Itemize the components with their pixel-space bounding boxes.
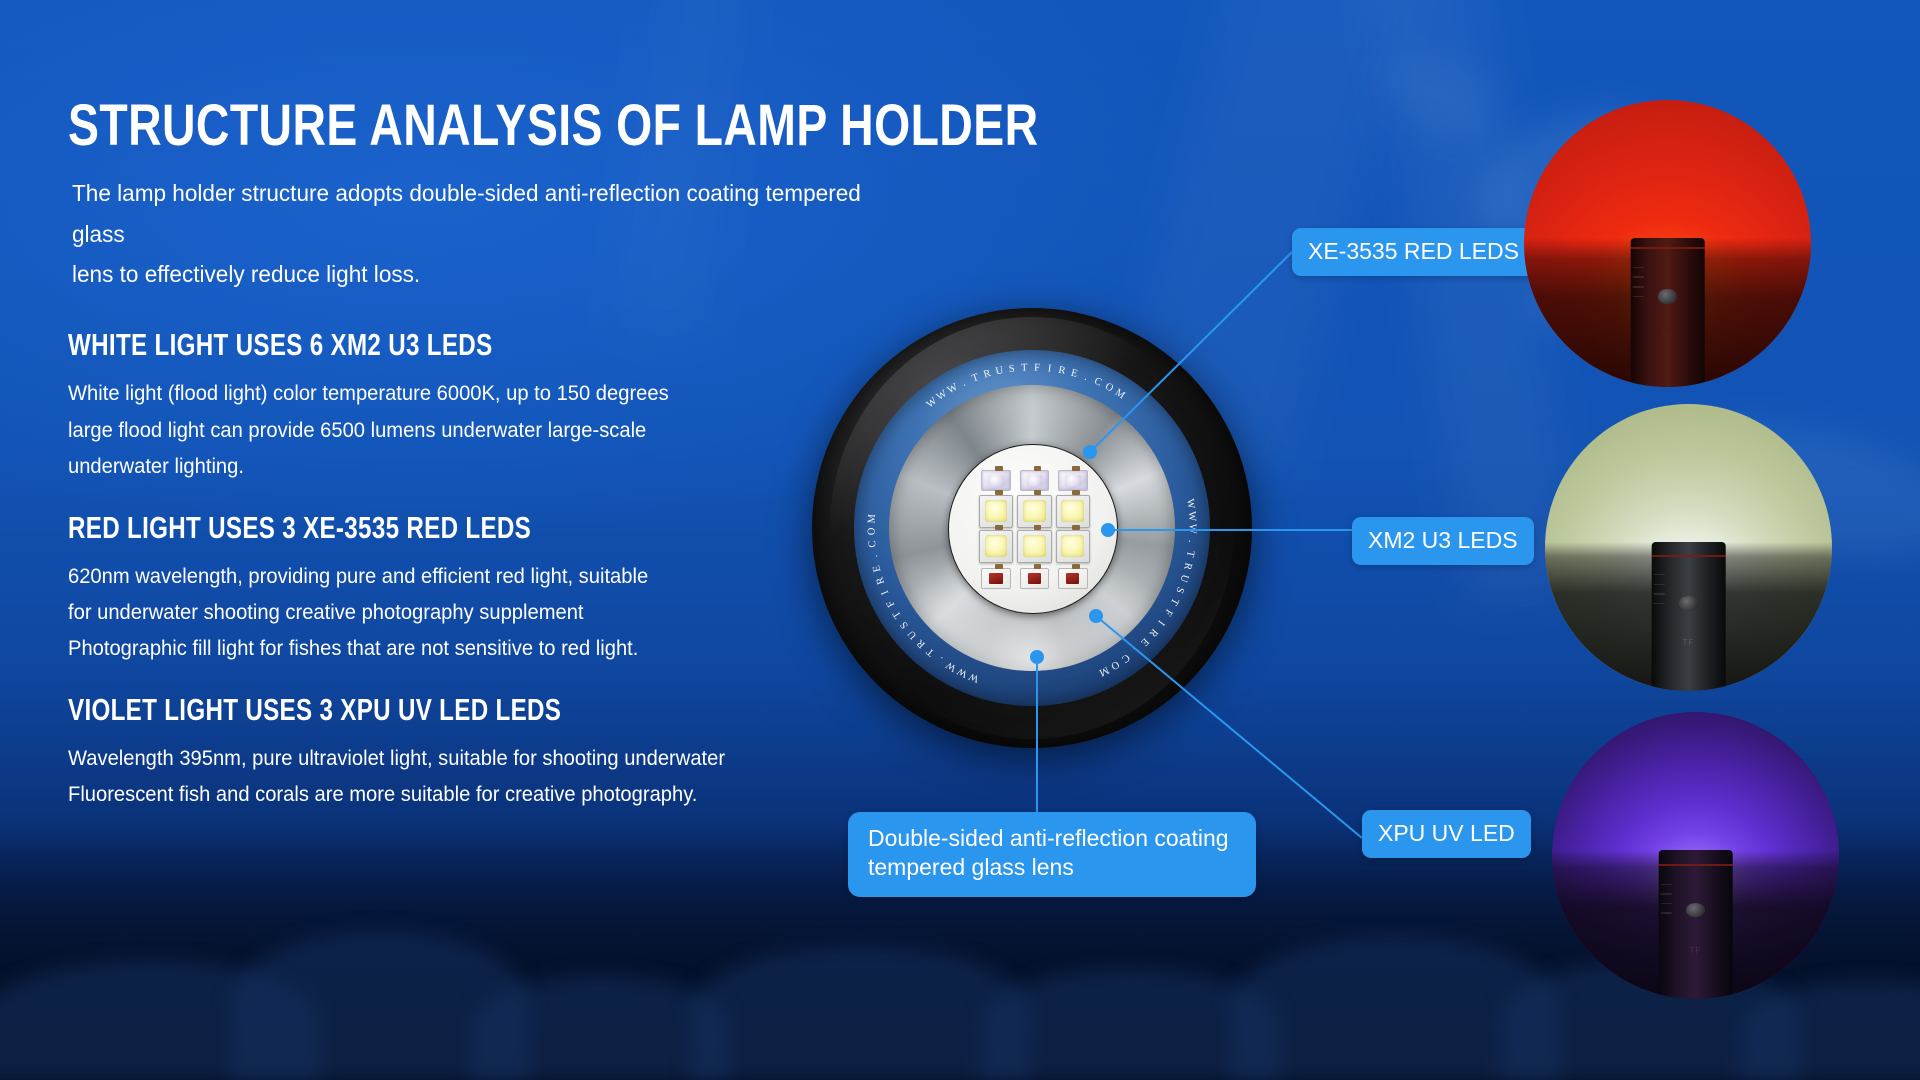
section-violet-light: VIOLET LIGHT USES 3 XPU UV LED LEDS Wave… — [68, 693, 898, 813]
body-line: Photographic fill light for fishes that … — [68, 631, 865, 667]
torch-logo-red: TF — [1630, 331, 1705, 340]
brand-char: C — [867, 537, 879, 548]
brand-char: T — [1183, 550, 1195, 561]
info-column: STRUCTURE ANALYSIS OF LAMP HOLDER The la… — [68, 96, 898, 840]
section-red-light: RED LIGHT USES 3 XE-3535 RED LEDS 620nm … — [68, 511, 898, 667]
pcb-trace — [1034, 525, 1042, 530]
led-white-4 — [979, 530, 1014, 563]
beam-photo-red: TF — [1524, 100, 1811, 387]
pcb-trace — [995, 525, 1003, 530]
page-title: STRUCTURE ANALYSIS OF LAMP HOLDER — [68, 96, 732, 155]
led-board — [948, 444, 1117, 613]
section-heading-white: WHITE LIGHT USES 6 XM2 U3 LEDS — [68, 328, 715, 362]
callout-white-leds[interactable]: XM2 U3 LEDS — [1352, 517, 1534, 565]
brand-char: W — [1186, 511, 1198, 524]
pcb-trace — [1072, 466, 1080, 471]
section-body-violet: Wavelength 395nm, pure ultraviolet light… — [68, 741, 865, 813]
brand-char: . — [1083, 372, 1092, 384]
brand-char: U — [1177, 573, 1191, 586]
led-uv-3 — [1058, 470, 1088, 491]
body-line: for underwater shooting creative photogr… — [68, 595, 865, 631]
beam-photo-white: TF — [1545, 404, 1832, 691]
body-line: Wavelength 395nm, pure ultraviolet light… — [68, 741, 865, 777]
callout-lens-line-1: Double-sided anti-reflection coating — [868, 824, 1236, 853]
led-white-2 — [1017, 495, 1052, 528]
led-grid — [949, 445, 1116, 612]
brand-char: I — [1047, 363, 1054, 375]
brand-char: T — [1021, 362, 1030, 373]
lead-line-2: lens to effectively reduce light loss. — [72, 254, 865, 294]
brand-char: . — [868, 552, 880, 559]
brand-char: R — [982, 367, 994, 380]
flashlight-body-white: TF — [1651, 542, 1726, 691]
brand-char: W — [1186, 524, 1197, 537]
led-white-3 — [1056, 495, 1091, 528]
section-body-red: 620nm wavelength, providing pure and eff… — [68, 559, 865, 667]
callout-lens[interactable]: Double-sided anti-reflection coating tem… — [848, 812, 1256, 897]
torch-logo-white: TF — [1651, 638, 1726, 647]
section-white-light: WHITE LIGHT USES 6 XM2 U3 LEDS White lig… — [68, 328, 898, 484]
led-uv-2 — [1020, 470, 1050, 491]
pcb-trace — [995, 564, 1003, 569]
section-body-white: White light (flood light) color temperat… — [68, 376, 865, 484]
brand-char: F — [1034, 362, 1043, 373]
beam-photo-uv: TF — [1552, 712, 1839, 999]
callout-red-leds[interactable]: XE-3535 RED LEDS — [1292, 228, 1535, 276]
body-line: White light (flood light) color temperat… — [68, 376, 865, 412]
section-heading-red: RED LIGHT USES 3 XE-3535 RED LEDS — [68, 511, 715, 545]
lead-paragraph: The lamp holder structure adopts double-… — [72, 173, 865, 294]
pcb-trace — [1034, 490, 1042, 495]
brand-char: R — [874, 573, 888, 586]
pcb-trace — [1072, 490, 1080, 495]
section-heading-violet: VIOLET LIGHT USES 3 XPU UV LED LEDS — [68, 693, 715, 727]
torch-logo-uv: TF — [1658, 946, 1733, 955]
brand-char: U — [995, 365, 1007, 378]
brand-char: W — [1184, 498, 1197, 512]
brand-char: . — [1186, 540, 1197, 546]
brand-char: S — [1008, 363, 1018, 375]
led-white-5 — [1017, 530, 1052, 563]
pcb-trace — [1072, 525, 1080, 530]
pcb-trace — [1034, 466, 1042, 471]
brand-char: E — [1070, 367, 1082, 380]
body-line: 620nm wavelength, providing pure and eff… — [68, 559, 865, 595]
pcb-trace — [1034, 564, 1042, 569]
brand-char: E — [870, 562, 883, 573]
pcb-trace — [995, 490, 1003, 495]
brand-char: T — [970, 371, 982, 384]
brand-char: R — [1057, 365, 1069, 378]
lead-line-1: The lamp holder structure adopts double-… — [72, 173, 865, 254]
flashlight-body-uv: TF — [1658, 850, 1733, 999]
brand-char: O — [866, 525, 877, 535]
callout-uv-led[interactable]: XPU UV LED — [1362, 810, 1531, 858]
brand-char: M — [866, 511, 878, 524]
body-line: Fluorescent fish and corals are more sui… — [68, 777, 865, 813]
body-line: underwater lighting. — [68, 449, 865, 485]
flashlight-body-red: TF — [1630, 238, 1705, 387]
lamp-holder-photo: WWW.TRUSTFIRE.COMWWW.TRUSTFIRE.COMWWW.TR… — [812, 308, 1252, 748]
brand-char: R — [1181, 561, 1194, 573]
pcb-trace — [1072, 564, 1080, 569]
led-red-1 — [981, 568, 1011, 589]
led-red-2 — [1020, 568, 1050, 589]
led-white-1 — [979, 495, 1014, 528]
led-uv-1 — [981, 470, 1011, 491]
callout-lens-line-2: tempered glass lens — [868, 853, 1236, 882]
pcb-trace — [995, 466, 1003, 471]
led-white-6 — [1056, 530, 1091, 563]
body-line: large flood light can provide 6500 lumen… — [68, 413, 865, 449]
led-red-3 — [1058, 568, 1088, 589]
